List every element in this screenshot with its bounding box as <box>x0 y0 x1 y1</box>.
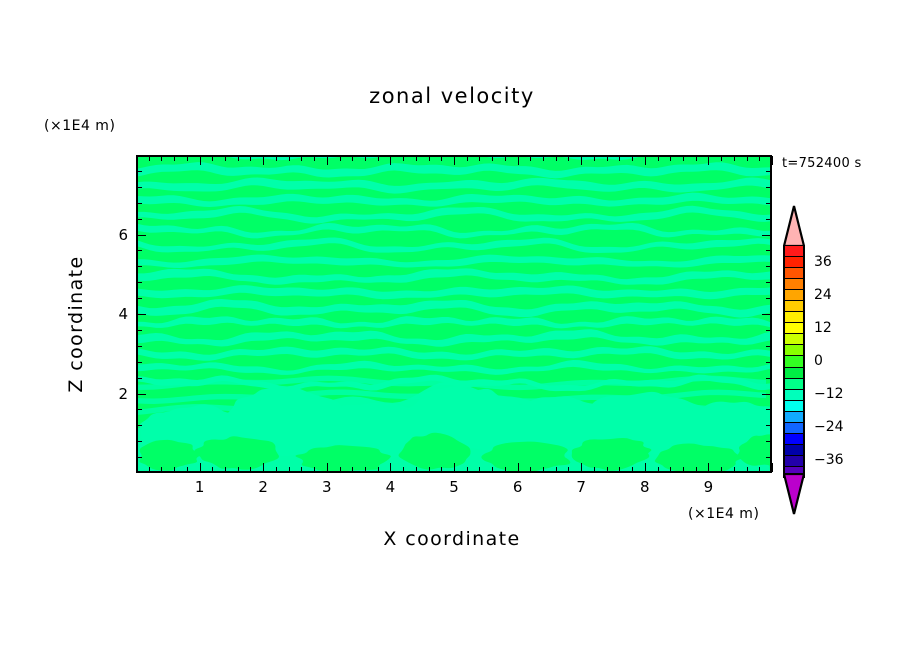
colorbar-band <box>783 256 805 268</box>
x-minor-tick-top <box>683 156 684 161</box>
timestamp-annotation: t=752400 s <box>782 156 862 171</box>
x-minor-tick-top <box>352 156 353 161</box>
x-minor-tick-top <box>403 156 404 161</box>
x-minor-tick-top <box>747 156 748 161</box>
colorbar-band <box>783 311 805 323</box>
y-minor-tick-right <box>766 330 771 331</box>
colorbar-band <box>783 433 805 445</box>
x-minor-tick-top <box>212 156 213 161</box>
colorbar-band <box>783 444 805 456</box>
x-minor-tick <box>683 467 684 472</box>
y-tick-label: 2 <box>112 385 128 403</box>
x-minor-tick <box>301 467 302 472</box>
x-tick-label: 9 <box>704 478 714 496</box>
x-minor-tick <box>658 467 659 472</box>
x-major-tick <box>390 463 391 472</box>
x-tick-label: 7 <box>576 478 586 496</box>
x-minor-tick <box>212 467 213 472</box>
x-minor-tick <box>556 467 557 472</box>
y-minor-tick-right <box>766 409 771 410</box>
y-minor-tick-right <box>766 362 771 363</box>
colorbar-band <box>783 422 805 434</box>
x-minor-tick-top <box>250 156 251 161</box>
y-minor-tick-right <box>766 250 771 251</box>
colorbar-bottom-arrow-cap <box>783 473 805 515</box>
y-minor-tick-right <box>766 346 771 347</box>
x-minor-tick-top <box>301 156 302 161</box>
colorbar-band <box>783 289 805 301</box>
x-minor-tick <box>238 467 239 472</box>
y-minor-tick <box>137 378 142 379</box>
x-minor-tick-top <box>556 156 557 161</box>
colorbar-tick-label: −12 <box>814 386 844 402</box>
x-minor-tick <box>340 467 341 472</box>
y-axis-title: Z coordinate <box>65 224 87 424</box>
x-minor-tick <box>225 467 226 472</box>
colorbar-band <box>783 378 805 390</box>
x-major-tick <box>327 463 328 472</box>
x-minor-tick <box>314 467 315 472</box>
x-minor-tick <box>721 467 722 472</box>
x-minor-tick-top <box>149 156 150 161</box>
y-major-tick-right <box>762 394 771 395</box>
x-major-tick-top <box>518 156 519 165</box>
x-tick-label: 3 <box>322 478 332 496</box>
x-minor-tick <box>289 467 290 472</box>
colorbar-tick-label: −24 <box>814 419 844 435</box>
x-minor-tick <box>365 467 366 472</box>
colorbar <box>783 245 805 477</box>
x-major-tick <box>454 463 455 472</box>
x-minor-tick-top <box>530 156 531 161</box>
x-minor-tick <box>479 467 480 472</box>
y-major-tick-right <box>762 235 771 236</box>
y-minor-tick <box>137 250 142 251</box>
y-minor-tick <box>137 441 142 442</box>
x-minor-tick-top <box>632 156 633 161</box>
x-major-tick-top <box>454 156 455 165</box>
y-minor-tick-right <box>766 219 771 220</box>
colorbar-band <box>783 400 805 412</box>
y-major-tick-right <box>762 314 771 315</box>
x-minor-tick-top <box>734 156 735 161</box>
x-minor-tick <box>416 467 417 472</box>
x-minor-tick-top <box>429 156 430 161</box>
y-minor-tick <box>137 330 142 331</box>
colorbar-top-arrow-cap <box>783 205 805 247</box>
x-minor-tick <box>352 467 353 472</box>
page-title: zonal velocity <box>0 84 904 108</box>
y-minor-tick <box>137 409 142 410</box>
x-tick-label: 5 <box>449 478 459 496</box>
colorbar-band <box>783 300 805 312</box>
y-axis-unit-label: (×1E4 m) <box>44 118 115 134</box>
x-minor-tick <box>429 467 430 472</box>
x-minor-tick-top <box>340 156 341 161</box>
colorbar-band <box>783 245 805 257</box>
colorbar-band <box>783 344 805 356</box>
y-minor-tick-right <box>766 171 771 172</box>
y-major-tick <box>137 394 146 395</box>
x-minor-tick <box>747 467 748 472</box>
x-minor-tick-top <box>238 156 239 161</box>
x-minor-tick-top <box>314 156 315 161</box>
x-minor-tick-top <box>289 156 290 161</box>
x-major-tick <box>645 463 646 472</box>
y-minor-tick-right <box>766 266 771 267</box>
x-minor-tick <box>696 467 697 472</box>
x-major-tick <box>708 463 709 472</box>
x-minor-tick <box>403 467 404 472</box>
x-minor-tick-top <box>276 156 277 161</box>
contour-plot-area <box>136 155 772 473</box>
colorbar-tick-label: 24 <box>814 287 832 303</box>
contour-field <box>138 157 770 471</box>
x-major-tick-top <box>581 156 582 165</box>
colorbar-tick-label: 12 <box>814 320 832 336</box>
y-minor-tick <box>137 203 142 204</box>
x-minor-tick-top <box>416 156 417 161</box>
y-tick-label: 4 <box>112 305 128 323</box>
x-minor-tick-top <box>467 156 468 161</box>
x-major-tick <box>581 463 582 472</box>
x-minor-tick-top <box>174 156 175 161</box>
y-minor-tick-right <box>766 378 771 379</box>
x-major-tick-top <box>645 156 646 165</box>
colorbar-band <box>783 333 805 345</box>
y-minor-tick-right <box>766 187 771 188</box>
x-minor-tick-top <box>696 156 697 161</box>
y-minor-tick <box>137 362 142 363</box>
y-minor-tick <box>137 171 142 172</box>
x-tick-label: 8 <box>640 478 650 496</box>
x-minor-tick-top <box>594 156 595 161</box>
x-major-tick-top <box>263 156 264 165</box>
x-minor-tick <box>250 467 251 472</box>
y-minor-tick-right <box>766 203 771 204</box>
y-minor-tick-right <box>766 425 771 426</box>
x-minor-tick-top <box>721 156 722 161</box>
x-minor-tick <box>607 467 608 472</box>
colorbar-band <box>783 267 805 279</box>
x-minor-tick-top <box>658 156 659 161</box>
y-minor-tick <box>137 298 142 299</box>
x-minor-tick-top <box>161 156 162 161</box>
colorbar-tick-label: −36 <box>814 452 844 468</box>
x-minor-tick <box>505 467 506 472</box>
x-minor-tick-top <box>479 156 480 161</box>
y-major-tick <box>137 235 146 236</box>
x-minor-tick <box>174 467 175 472</box>
x-minor-tick-top <box>492 156 493 161</box>
x-minor-tick <box>670 467 671 472</box>
y-minor-tick-right <box>766 441 771 442</box>
y-minor-tick-right <box>766 282 771 283</box>
x-minor-tick <box>594 467 595 472</box>
colorbar-band <box>783 322 805 334</box>
y-minor-tick <box>137 187 142 188</box>
colorbar-tick-label: 0 <box>814 353 823 369</box>
x-major-tick-top <box>327 156 328 165</box>
x-minor-tick <box>276 467 277 472</box>
colorbar-band <box>783 367 805 379</box>
x-major-tick-top <box>708 156 709 165</box>
x-tick-label: 4 <box>386 478 396 496</box>
x-minor-tick <box>619 467 620 472</box>
y-minor-tick <box>137 346 142 347</box>
x-major-tick-top <box>390 156 391 165</box>
x-minor-tick <box>492 467 493 472</box>
x-minor-tick <box>530 467 531 472</box>
x-minor-tick <box>759 467 760 472</box>
x-major-tick <box>200 463 201 472</box>
y-minor-tick <box>137 266 142 267</box>
x-minor-tick-top <box>505 156 506 161</box>
x-minor-tick <box>568 467 569 472</box>
y-minor-tick-right <box>766 457 771 458</box>
colorbar-band <box>783 455 805 467</box>
y-major-tick <box>137 314 146 315</box>
y-tick-label: 6 <box>112 226 128 244</box>
x-tick-label: 1 <box>195 478 205 496</box>
x-axis-unit-label: (×1E4 m) <box>688 506 759 522</box>
x-minor-tick <box>161 467 162 472</box>
x-minor-tick-top <box>441 156 442 161</box>
x-minor-tick <box>632 467 633 472</box>
x-major-tick <box>263 463 264 472</box>
x-minor-tick <box>149 467 150 472</box>
colorbar-band <box>783 389 805 401</box>
x-axis-title: X coordinate <box>0 528 904 550</box>
x-minor-tick-top <box>543 156 544 161</box>
x-minor-tick <box>187 467 188 472</box>
colorbar-band <box>783 355 805 367</box>
x-minor-tick <box>467 467 468 472</box>
y-minor-tick <box>137 282 142 283</box>
x-minor-tick-top <box>619 156 620 161</box>
x-tick-label: 6 <box>513 478 523 496</box>
x-minor-tick <box>543 467 544 472</box>
x-minor-tick <box>441 467 442 472</box>
x-tick-label: 2 <box>258 478 268 496</box>
x-major-tick-top <box>200 156 201 165</box>
y-minor-tick <box>137 457 142 458</box>
colorbar-tick-label: 36 <box>814 254 832 270</box>
x-minor-tick-top <box>607 156 608 161</box>
x-major-tick <box>772 463 773 472</box>
x-minor-tick-top <box>187 156 188 161</box>
x-minor-tick-top <box>759 156 760 161</box>
colorbar-band <box>783 278 805 290</box>
x-minor-tick-top <box>670 156 671 161</box>
x-minor-tick-top <box>568 156 569 161</box>
x-major-tick-top <box>772 156 773 165</box>
x-minor-tick-top <box>225 156 226 161</box>
x-minor-tick <box>378 467 379 472</box>
y-minor-tick <box>137 219 142 220</box>
y-minor-tick <box>137 425 142 426</box>
colorbar-band <box>783 411 805 423</box>
y-minor-tick-right <box>766 298 771 299</box>
x-minor-tick <box>734 467 735 472</box>
x-minor-tick-top <box>365 156 366 161</box>
x-major-tick <box>518 463 519 472</box>
x-minor-tick-top <box>378 156 379 161</box>
